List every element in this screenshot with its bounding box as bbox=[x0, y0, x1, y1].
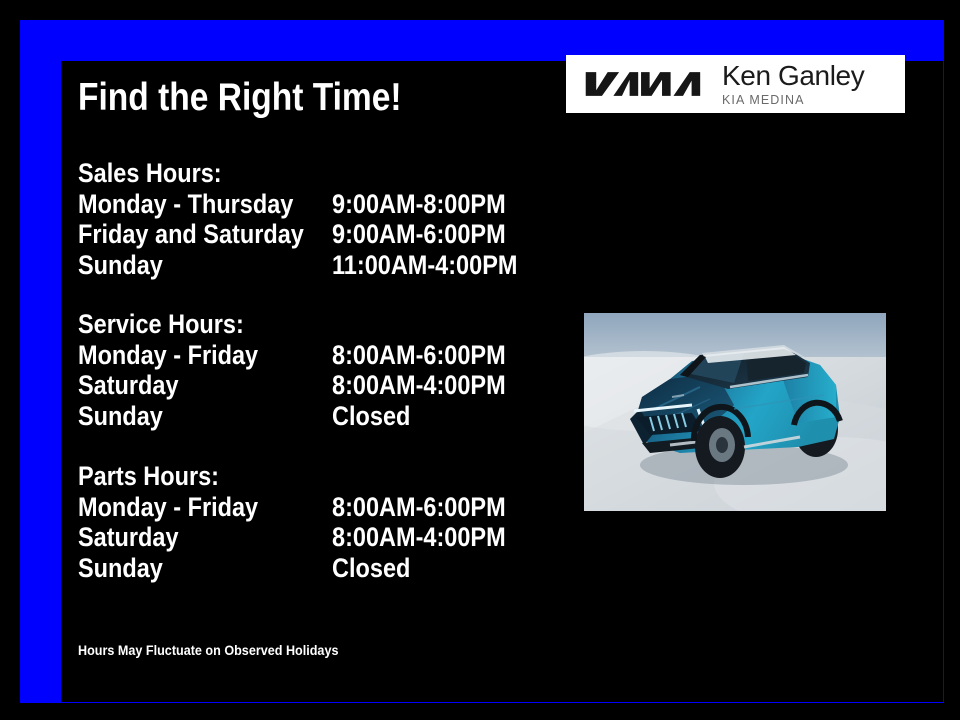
service-hours-block: Service Hours: Monday - Friday 8:00AM-6:… bbox=[78, 309, 258, 431]
hours-row-days: Sunday bbox=[78, 250, 163, 281]
hours-row-time: 11:00AM-4:00PM bbox=[332, 250, 517, 281]
hours-row-time: 8:00AM-6:00PM bbox=[332, 340, 506, 371]
hours-row-days: Saturday bbox=[78, 522, 179, 553]
hours-row: Saturday 8:00AM-4:00PM bbox=[78, 370, 258, 401]
dealer-logo-panel: Ken Ganley KIA MEDINA bbox=[566, 55, 905, 113]
dealer-name-text: Ken Ganley bbox=[722, 62, 864, 90]
hours-row-days: Monday - Friday bbox=[78, 492, 258, 523]
hours-row: Friday and Saturday 9:00AM-6:00PM bbox=[78, 219, 304, 250]
hours-row: Monday - Friday 8:00AM-6:00PM bbox=[78, 340, 258, 371]
page-title: Find the Right Time! bbox=[78, 76, 402, 120]
hours-row-days: Monday - Friday bbox=[78, 340, 258, 371]
hours-row: Sunday Closed bbox=[78, 401, 258, 432]
dealer-location-text: KIA MEDINA bbox=[722, 94, 864, 107]
dealer-name-block: Ken Ganley KIA MEDINA bbox=[722, 62, 864, 107]
holiday-disclaimer: Hours May Fluctuate on Observed Holidays bbox=[78, 641, 338, 659]
parts-hours-block: Parts Hours: Monday - Friday 8:00AM-6:00… bbox=[78, 461, 258, 583]
hours-row: Monday - Friday 8:00AM-6:00PM bbox=[78, 492, 258, 523]
hours-row-days: Monday - Thursday bbox=[78, 189, 293, 220]
hours-row-time: 8:00AM-4:00PM bbox=[332, 522, 506, 553]
hours-row-time: Closed bbox=[332, 553, 410, 584]
hours-row: Monday - Thursday 9:00AM-8:00PM bbox=[78, 189, 304, 220]
hours-row-days: Saturday bbox=[78, 370, 179, 401]
hours-row-time: 9:00AM-8:00PM bbox=[332, 189, 506, 220]
sales-hours-heading: Sales Hours: bbox=[78, 158, 304, 189]
kia-ev9-suv-photo bbox=[584, 313, 886, 511]
hours-row-days: Friday and Saturday bbox=[78, 219, 304, 250]
hours-row-time: 8:00AM-4:00PM bbox=[332, 370, 506, 401]
hours-row-time: 8:00AM-6:00PM bbox=[332, 492, 506, 523]
hours-row: Sunday 11:00AM-4:00PM bbox=[78, 250, 304, 281]
hours-row: Sunday Closed bbox=[78, 553, 258, 584]
slide-canvas: Find the Right Time! Sales Hours: Monday… bbox=[0, 0, 960, 720]
sales-hours-block: Sales Hours: Monday - Thursday 9:00AM-8:… bbox=[78, 158, 304, 280]
hours-row-days: Sunday bbox=[78, 401, 163, 432]
hours-row-days: Sunday bbox=[78, 553, 163, 584]
hours-row: Saturday 8:00AM-4:00PM bbox=[78, 522, 258, 553]
service-hours-heading: Service Hours: bbox=[78, 309, 258, 340]
hours-row-time: Closed bbox=[332, 401, 410, 432]
hours-row-time: 9:00AM-6:00PM bbox=[332, 219, 506, 250]
kia-logo-icon bbox=[580, 69, 704, 99]
parts-hours-heading: Parts Hours: bbox=[78, 461, 258, 492]
